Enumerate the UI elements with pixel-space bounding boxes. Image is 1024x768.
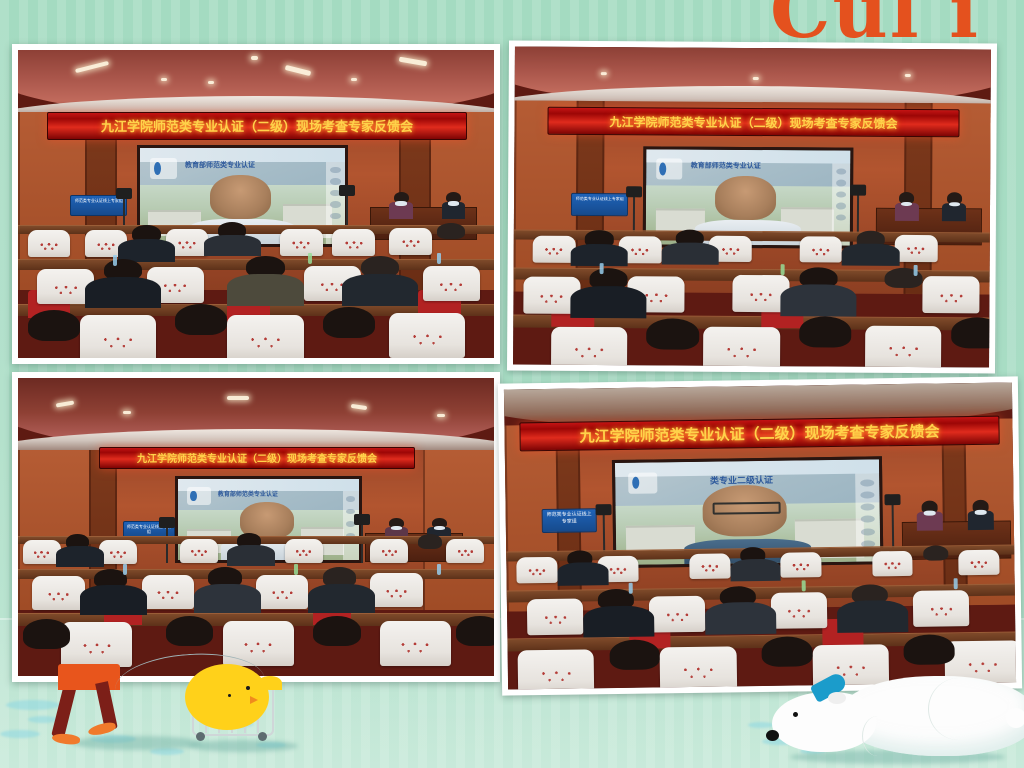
- attendee-shoulders: [308, 584, 375, 614]
- stage-banner: 九江学院师范类专业认证（二级）现场考查专家反馈会: [99, 447, 415, 470]
- water-bottle-icon: [599, 263, 603, 274]
- attendee-head: [437, 223, 466, 239]
- chair-with-cover: [280, 229, 323, 256]
- photo-bottom-right: 九江学院师范类专业认证（二级）现场考查专家反馈会 类专业二级认证: [504, 382, 1016, 689]
- host-person: [942, 192, 966, 221]
- slide-canvas: Cul i 九江学院师范类专业认证（二级）现场考查专家反馈会: [0, 0, 1024, 768]
- attendee-shoulders: [661, 243, 718, 265]
- chair-with-cover: [446, 539, 484, 563]
- attendee-head: [175, 304, 227, 335]
- water-bottle-icon: [629, 583, 633, 594]
- water-splash-icon: [748, 722, 774, 728]
- attendee-shoulders: [705, 602, 777, 634]
- ceiling-light-icon: [251, 56, 258, 60]
- ceiling-light-icon: [123, 411, 131, 414]
- chair-with-cover: [865, 326, 941, 368]
- water-splash-icon: [90, 735, 136, 743]
- university-logo-icon: [656, 159, 683, 180]
- hall-scene: 九江学院师范类专业认证（二级）现场考查专家反馈会 教育部师范类专业认证: [18, 50, 494, 358]
- side-display-text: 师范类专业认证线上专家组: [576, 196, 624, 201]
- stage-banner: 九江学院师范类专业认证（二级）现场考查专家反馈会: [47, 112, 468, 140]
- water-bottle-icon: [954, 578, 958, 589]
- chair-with-cover: [913, 590, 969, 627]
- audience-area: [18, 216, 494, 358]
- attendee-head: [761, 636, 812, 667]
- stage-banner-text: 九江学院师范类专业认证（二级）现场考查专家反馈会: [101, 116, 413, 135]
- speaker-head: [715, 176, 777, 220]
- chair-with-cover: [958, 549, 999, 575]
- chair-with-cover: [660, 646, 737, 690]
- chair-with-cover: [812, 644, 889, 690]
- chair-with-cover: [872, 550, 913, 576]
- hall-scene: 九江学院师范类专业认证（二级）现场考查专家反馈会 教育部师范类专业认证: [513, 47, 991, 368]
- screen-title-text: 教育部师范类专业认证: [185, 160, 255, 170]
- ceiling-light-icon: [227, 396, 249, 400]
- water-bottle-icon: [308, 253, 312, 264]
- water-splash-icon: [0, 730, 40, 738]
- attendee-head: [166, 616, 214, 646]
- ceiling-light-icon: [208, 81, 214, 84]
- attendee-head: [646, 319, 699, 350]
- university-logo-icon: [187, 487, 211, 505]
- water-splash-icon: [150, 748, 184, 755]
- chair-with-cover: [32, 576, 84, 610]
- water-splash-icon: [762, 738, 798, 745]
- glasses-icon: [713, 502, 781, 515]
- chair-with-cover: [923, 276, 980, 313]
- chair-with-cover: [551, 327, 627, 368]
- attendee-shoulders: [194, 584, 261, 614]
- chair-with-cover: [518, 649, 595, 689]
- chair-with-cover: [142, 575, 194, 609]
- attendee-shoulders: [583, 605, 655, 637]
- attendee-head: [28, 310, 80, 341]
- water-bottle-icon: [801, 580, 805, 591]
- attendee-shoulders: [780, 284, 856, 317]
- attendee-head: [799, 317, 852, 348]
- chair-with-cover: [649, 595, 705, 632]
- host-person: [389, 192, 413, 220]
- chair-with-cover: [389, 228, 432, 255]
- side-display-text: 师范类专业认证线上专家组: [547, 511, 592, 524]
- attendee-shoulders: [204, 235, 261, 256]
- attendee-head: [609, 639, 660, 670]
- chair-with-cover: [28, 230, 71, 257]
- chair-with-cover: [771, 592, 827, 629]
- water-bottle-icon: [913, 265, 917, 276]
- photo-frame-bottom-left[interactable]: 九江学院师范类专业认证（二级）现场考查专家反馈会 教育部师范类专业认证: [12, 372, 500, 682]
- host-person: [895, 192, 919, 221]
- ceiling-light-icon: [437, 414, 445, 417]
- photo-frame-bottom-right[interactable]: 九江学院师范类专业认证（二级）现场考查专家反馈会 类专业二级认证: [498, 376, 1022, 695]
- water-bottle-icon: [113, 255, 117, 266]
- chair-with-cover: [227, 315, 303, 358]
- attendee-head: [923, 545, 949, 560]
- stage-banner-text: 九江学院师范类专业认证（二级）现场考查专家反馈会: [609, 113, 897, 132]
- chair-with-cover: [380, 621, 451, 666]
- chair-with-cover: [370, 539, 408, 563]
- host-person: [917, 500, 943, 530]
- chair-with-cover: [799, 236, 842, 263]
- screen-title-text: 教育部师范类专业认证: [691, 161, 761, 171]
- ceiling-light-icon: [600, 73, 606, 76]
- attendee-shoulders: [570, 286, 646, 319]
- water-bottle-icon: [437, 253, 441, 264]
- attendee-head: [951, 317, 991, 348]
- hall-scene: 九江学院师范类专业认证（二级）现场考查专家反馈会 类专业二级认证: [504, 382, 1016, 689]
- host-person: [442, 192, 466, 220]
- attendee-shoulders: [730, 558, 781, 581]
- stage-banner-text: 九江学院师范类专业认证（二级）现场考查专家反馈会: [579, 420, 939, 446]
- university-logo-icon: [150, 158, 177, 179]
- water-bottle-icon: [437, 564, 441, 575]
- side-display-board: 师范类专业认证线上专家组: [571, 193, 628, 216]
- chair-with-cover: [533, 236, 576, 263]
- chair-with-cover: [285, 539, 323, 563]
- photo-frame-top-right[interactable]: 九江学院师范类专业认证（二级）现场考查专家反馈会 教育部师范类专业认证: [507, 41, 997, 374]
- audience-area: [18, 527, 494, 676]
- attendee-shoulders: [227, 274, 303, 305]
- chair-with-cover: [332, 229, 375, 256]
- chair-with-cover: [99, 540, 137, 564]
- chair-with-cover: [703, 326, 779, 367]
- chair-with-cover: [80, 315, 156, 358]
- attendee-head: [456, 616, 494, 646]
- water-splash-icon: [28, 716, 58, 723]
- screen-title-text: 教育部师范类专业认证: [218, 489, 278, 498]
- water-bottle-icon: [294, 564, 298, 575]
- chair-with-cover: [781, 552, 822, 578]
- water-splash-icon: [800, 748, 826, 754]
- chair-with-cover: [894, 235, 937, 262]
- attendee-shoulders: [557, 562, 608, 585]
- attendee-shoulders: [85, 277, 161, 308]
- hall-scene: 九江学院师范类专业认证（二级）现场考查专家反馈会 教育部师范类专业认证: [18, 378, 494, 676]
- audience-area: [506, 532, 1016, 689]
- ceiling-light-icon: [161, 78, 167, 81]
- attendee-shoulders: [80, 585, 147, 615]
- water-splash-icon: [256, 742, 286, 748]
- photo-top-right: 九江学院师范类专业认证（二级）现场考查专家反馈会 教育部师范类专业认证: [513, 47, 991, 368]
- attendee-head: [23, 619, 71, 649]
- stage-banner: 九江学院师范类专业认证（二级）现场考查专家反馈会: [548, 107, 960, 137]
- host-person: [968, 500, 994, 530]
- photo-bottom-left: 九江学院师范类专业认证（二级）现场考查专家反馈会 教育部师范类专业认证: [18, 378, 494, 676]
- attendee-head: [323, 307, 375, 338]
- audience-desk: [18, 569, 494, 579]
- chair-with-cover: [527, 598, 583, 635]
- photo-top-left: 九江学院师范类专业认证（二级）现场考查专家反馈会 教育部师范类专业认证: [18, 50, 494, 358]
- chair-with-cover: [389, 313, 465, 358]
- side-display-board: 师范类专业认证线上专家组: [541, 508, 597, 533]
- ceiling-light-icon: [351, 78, 357, 81]
- university-logo-icon: [628, 473, 657, 494]
- chair-with-cover: [689, 553, 730, 579]
- attendee-head: [418, 534, 442, 549]
- chair-with-cover: [180, 539, 218, 563]
- ceiling-light-icon: [753, 77, 759, 80]
- chair-with-cover: [423, 266, 480, 301]
- chair-with-cover: [944, 640, 1016, 686]
- attendee-head: [904, 634, 955, 665]
- stage-banner-text: 九江学院师范类专业认证（二级）现场考查专家反馈会: [137, 450, 377, 465]
- attendee-shoulders: [56, 546, 104, 567]
- water-bottle-icon: [123, 564, 127, 575]
- attendee-head: [313, 616, 361, 646]
- attendee-shoulders: [837, 600, 909, 632]
- audience-area: [513, 218, 990, 367]
- speaker-head: [210, 175, 271, 219]
- water-splash-icon: [210, 720, 254, 728]
- attendee-shoulders: [342, 274, 418, 305]
- attendee-shoulders: [227, 545, 275, 566]
- chair-with-cover: [223, 621, 294, 666]
- water-splash-icon: [6, 700, 60, 710]
- chair-with-cover: [256, 575, 308, 609]
- chair-with-cover: [516, 557, 557, 583]
- chair-with-cover: [61, 622, 132, 667]
- chair-with-cover: [370, 573, 422, 607]
- photo-frame-top-left[interactable]: 九江学院师范类专业认证（二级）现场考查专家反馈会 教育部师范类专业认证: [12, 44, 500, 364]
- attendee-shoulders: [842, 244, 899, 266]
- water-bottle-icon: [780, 264, 784, 275]
